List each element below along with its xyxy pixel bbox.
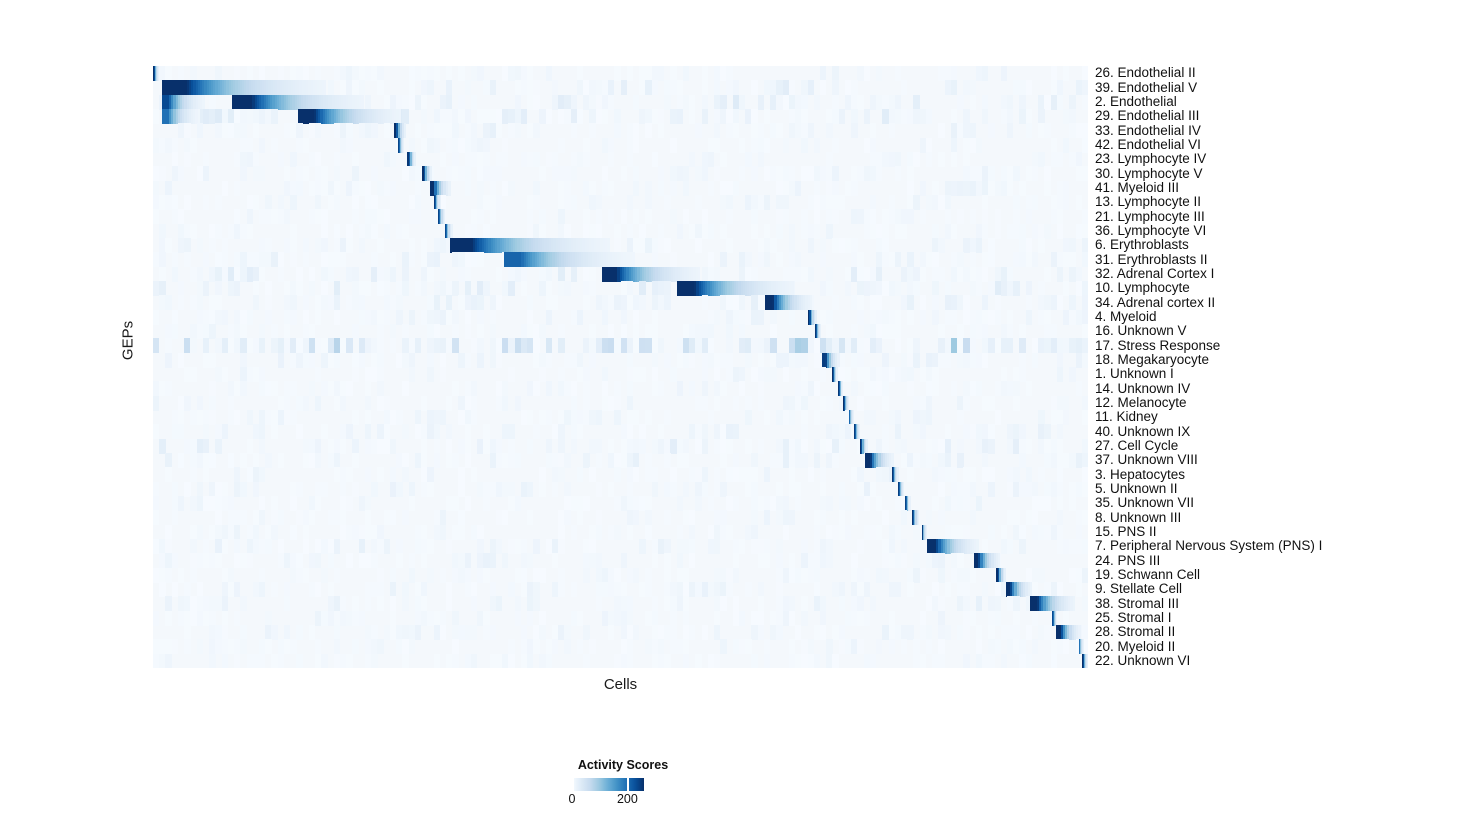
gep-row-label: 1. Unknown I (1095, 367, 1174, 380)
heatmap-row (153, 625, 1088, 640)
heatmap-row (153, 510, 1088, 525)
colorbar-tick (572, 778, 574, 791)
gep-row-label: 10. Lymphocyte (1095, 281, 1190, 294)
heatmap-row (153, 439, 1088, 454)
gep-row-label: 37. Unknown VIII (1095, 453, 1198, 466)
gep-row-label: 36. Lymphocyte VI (1095, 224, 1206, 237)
heatmap-row (153, 152, 1088, 167)
gep-row-label: 5. Unknown II (1095, 482, 1178, 495)
gep-row-label: 17. Stress Response (1095, 339, 1220, 352)
heatmap-row (153, 611, 1088, 626)
gep-row-label: 26. Endothelial II (1095, 66, 1196, 79)
heatmap-row (153, 424, 1088, 439)
gep-row-label: 3. Hepatocytes (1095, 468, 1185, 481)
gep-row-label: 16. Unknown V (1095, 324, 1187, 337)
gep-row-label: 12. Melanocyte (1095, 396, 1187, 409)
heatmap-row (153, 181, 1088, 196)
colorbar-legend: Activity Scores 0200 (498, 758, 748, 810)
heatmap-row (153, 267, 1088, 282)
gep-row-label: 35. Unknown VII (1095, 496, 1194, 509)
gep-row-label: 11. Kidney (1095, 410, 1158, 423)
colorbar-tick-label: 200 (617, 792, 638, 806)
heatmap-row (153, 453, 1088, 468)
gep-row-label: 15. PNS II (1095, 525, 1157, 538)
heatmap-row (153, 295, 1088, 310)
heatmap-row (153, 539, 1088, 554)
heatmap-row (153, 654, 1088, 668)
colorbar-tick (627, 778, 629, 791)
gep-row-label: 33. Endothelial IV (1095, 124, 1201, 137)
gep-row-label: 28. Stromal II (1095, 625, 1175, 638)
gep-row-label: 7. Peripheral Nervous System (PNS) I (1095, 539, 1322, 552)
gep-row-label: 8. Unknown III (1095, 511, 1181, 524)
colorbar-gradient (572, 778, 644, 791)
heatmap-row (153, 281, 1088, 296)
heatmap-row (153, 381, 1088, 396)
heatmap-row (153, 367, 1088, 382)
gep-row-label: 29. Endothelial III (1095, 109, 1199, 122)
x-axis-label: Cells (153, 676, 1088, 693)
heatmap-row (153, 138, 1088, 153)
heatmap-row (153, 496, 1088, 511)
gep-row-label: 31. Erythroblasts II (1095, 253, 1208, 266)
gep-row-label: 40. Unknown IX (1095, 425, 1190, 438)
gep-row-label: 9. Stellate Cell (1095, 582, 1182, 595)
heatmap-row (153, 324, 1088, 339)
heatmap-row (153, 582, 1088, 597)
gep-row-label: 4. Myeloid (1095, 310, 1157, 323)
colorbar-tick-label: 0 (569, 792, 576, 806)
heatmap-row (153, 166, 1088, 181)
gep-row-label: 6. Erythroblasts (1095, 238, 1189, 251)
gep-row-label: 42. Endothelial VI (1095, 138, 1201, 151)
y-axis-label: GEPs (120, 271, 137, 411)
gep-row-label: 41. Myeloid III (1095, 181, 1179, 194)
gep-row-label: 25. Stromal I (1095, 611, 1172, 624)
gep-row-label: 22. Unknown VI (1095, 654, 1190, 667)
gep-row-label: 20. Myeloid II (1095, 640, 1175, 653)
colorbar-title: Activity Scores (498, 758, 748, 772)
heatmap-row (153, 482, 1088, 497)
gep-row-label: 39. Endothelial V (1095, 81, 1197, 94)
heatmap-row (153, 467, 1088, 482)
gep-row-label: 32. Adrenal Cortex I (1095, 267, 1214, 280)
heatmap-row (153, 238, 1088, 253)
gep-row-label: 27. Cell Cycle (1095, 439, 1178, 452)
heatmap-row (153, 553, 1088, 568)
heatmap-row (153, 596, 1088, 611)
gep-row-labels: 26. Endothelial II39. Endothelial V2. En… (1095, 66, 1450, 668)
heatmap-plot-area (153, 66, 1088, 668)
gep-row-label: 13. Lymphocyte II (1095, 195, 1201, 208)
heatmap-row (153, 224, 1088, 239)
heatmap-row (153, 639, 1088, 654)
heatmap-row (153, 410, 1088, 425)
heatmap-row (153, 252, 1088, 267)
gep-row-label: 24. PNS III (1095, 554, 1160, 567)
heatmap-row (153, 568, 1088, 583)
heatmap-row (153, 80, 1088, 95)
gep-row-label: 18. Megakaryocyte (1095, 353, 1209, 366)
heatmap-row (153, 525, 1088, 540)
heatmap-row (153, 123, 1088, 138)
gep-row-label: 30. Lymphocyte V (1095, 167, 1203, 180)
gep-row-label: 14. Unknown IV (1095, 382, 1190, 395)
gep-row-label: 19. Schwann Cell (1095, 568, 1200, 581)
heatmap-row (153, 310, 1088, 325)
heatmap-row (153, 338, 1088, 353)
gep-row-label: 23. Lymphocyte IV (1095, 152, 1206, 165)
heatmap-row (153, 95, 1088, 110)
heatmap-row (153, 109, 1088, 124)
heatmap-row (153, 195, 1088, 210)
gep-row-label: 34. Adrenal cortex II (1095, 296, 1215, 309)
heatmap-row (153, 209, 1088, 224)
heatmap-row (153, 66, 1088, 81)
heatmap-figure: GEPs Cells 26. Endothelial II39. Endothe… (0, 0, 1457, 815)
gep-row-label: 38. Stromal III (1095, 597, 1179, 610)
gep-row-label: 2. Endothelial (1095, 95, 1177, 108)
heatmap-row (153, 396, 1088, 411)
gep-row-label: 21. Lymphocyte III (1095, 210, 1205, 223)
heatmap-row (153, 353, 1088, 368)
